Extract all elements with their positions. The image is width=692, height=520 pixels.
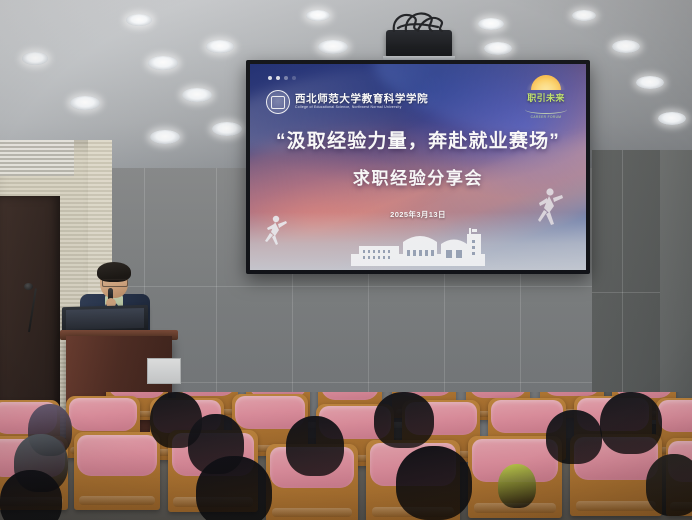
microphone-head-icon	[24, 283, 33, 290]
audience-head	[546, 410, 602, 464]
runner-silhouette-left-icon	[262, 214, 288, 248]
presentation-slide: 西北师范大学教育科学学院 College of Educational Scie…	[250, 64, 586, 270]
audience-head	[286, 416, 344, 476]
eyeglasses-icon	[102, 279, 128, 287]
recessed-downlight-icon	[636, 76, 664, 89]
runner-silhouette-right-icon	[534, 186, 564, 228]
event-badge-subtitle: CAREER FORUM	[531, 115, 562, 119]
sunrise-icon	[531, 75, 561, 90]
slide-title: “汲取经验力量，奔赴就业赛场”	[250, 126, 586, 153]
audience-head	[196, 456, 272, 520]
recessed-downlight-icon	[206, 40, 234, 53]
lecture-hall-photo: 西北师范大学教育科学学院 College of Educational Scie…	[0, 0, 692, 520]
recessed-downlight-icon	[148, 56, 178, 70]
university-name-cn: 西北师范大学教育科学学院	[295, 94, 428, 105]
recessed-downlight-icon	[478, 18, 504, 30]
event-badge: 职引未来 CAREER FORUM	[518, 72, 574, 122]
seat-cushion	[69, 398, 137, 430]
recessed-downlight-icon	[318, 40, 348, 54]
wall-notice-plate-icon	[147, 358, 181, 384]
recessed-downlight-icon	[150, 130, 180, 144]
recessed-downlight-icon	[658, 112, 686, 125]
seat-cushion	[77, 435, 156, 476]
audience-head	[0, 470, 62, 520]
recessed-downlight-icon	[126, 14, 152, 26]
projection-screen: 西北师范大学教育科学学院 College of Educational Scie…	[246, 60, 590, 274]
seat-lip	[576, 501, 657, 511]
seat-cushion	[658, 400, 692, 431]
campus-building-silhouette-icon	[345, 228, 491, 268]
recessed-downlight-icon	[212, 122, 242, 136]
audience-head	[600, 392, 662, 454]
slide-corner-dots	[268, 76, 296, 80]
projector-cable-bundle-icon	[388, 8, 450, 32]
audience-seating	[0, 392, 692, 520]
recessed-downlight-icon	[612, 40, 640, 53]
university-logo: 西北师范大学教育科学学院 College of Educational Scie…	[266, 90, 428, 114]
laptop-screen	[66, 308, 144, 330]
recessed-downlight-icon	[484, 42, 512, 55]
left-wall-louver	[0, 140, 74, 176]
recessed-downlight-icon	[182, 88, 212, 102]
audience-head	[646, 454, 692, 516]
university-name-en: College of Educational Science, Northwes…	[295, 105, 428, 110]
seat-cushion	[321, 392, 380, 400]
event-badge-title: 职引未来	[527, 91, 565, 104]
recessed-downlight-icon	[572, 10, 596, 21]
ceiling-projector-icon	[386, 30, 452, 58]
recessed-downlight-icon	[70, 96, 100, 110]
audience-head	[396, 446, 472, 520]
recessed-downlight-icon	[22, 52, 48, 65]
university-seal-icon	[266, 90, 290, 114]
audience-yellow-jacket	[498, 464, 536, 508]
badge-arc	[525, 105, 567, 114]
audience-head	[374, 392, 434, 448]
seat-lip	[79, 496, 155, 505]
seat-lip	[272, 508, 353, 517]
auditorium-seat-icon	[74, 432, 160, 510]
recessed-downlight-icon	[306, 10, 330, 21]
